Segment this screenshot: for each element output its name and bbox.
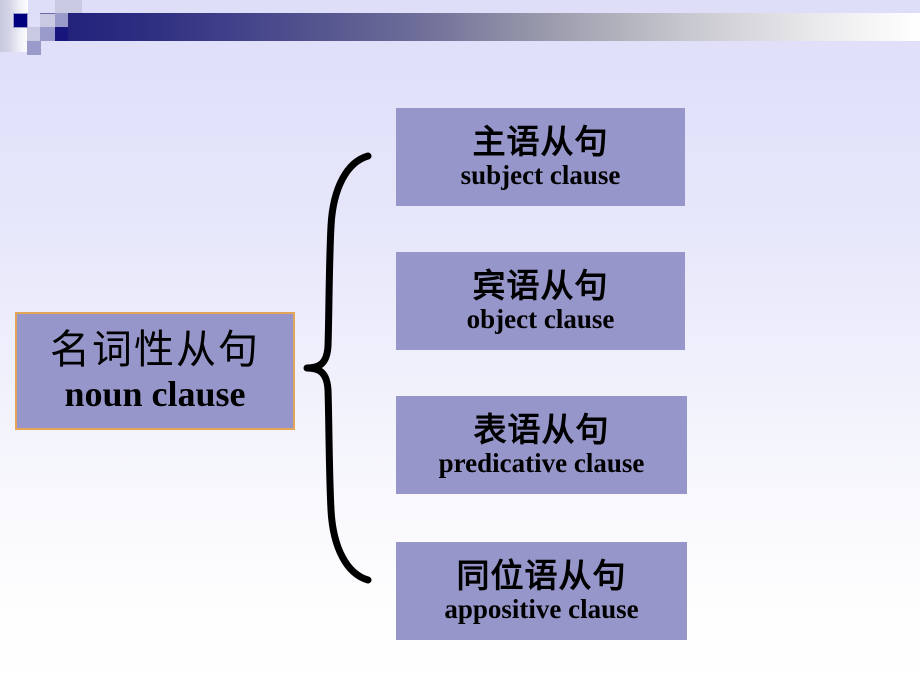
- branch-node-appositive-clause: 同位语从句 appositive clause: [396, 542, 687, 640]
- decor-mid-square-upper: [55, 13, 69, 27]
- root-node-chinese-label: 名词性从句: [50, 330, 260, 370]
- slide-canvas: 名词性从句 noun clause 主语从句 subject clause 宾语…: [0, 0, 920, 690]
- decor-pale-square-top: [55, 0, 82, 13]
- branch-english-label-predicative: predicative clause: [439, 450, 645, 477]
- branch-english-label-object: object clause: [467, 306, 615, 333]
- curly-brace-connector: [295, 140, 390, 600]
- root-node-english-label: noun clause: [64, 376, 245, 412]
- branch-chinese-label-predicative: 表语从句: [474, 413, 610, 446]
- header-gradient-banner: [68, 13, 920, 41]
- branch-chinese-label-object: 宾语从句: [473, 269, 609, 302]
- branch-chinese-label-subject: 主语从句: [473, 125, 609, 158]
- decor-mid-square-bottom: [27, 41, 41, 55]
- branch-node-object-clause: 宾语从句 object clause: [396, 252, 685, 350]
- branch-node-subject-clause: 主语从句 subject clause: [396, 108, 685, 206]
- decor-navy-block: [55, 27, 69, 41]
- brace-path: [307, 156, 368, 580]
- decor-pale-square-lower: [27, 27, 41, 41]
- root-node-noun-clause: 名词性从句 noun clause: [15, 312, 295, 430]
- decor-navy-square: [13, 13, 28, 28]
- branch-node-predicative-clause: 表语从句 predicative clause: [396, 396, 687, 494]
- branch-chinese-label-appositive: 同位语从句: [457, 559, 627, 592]
- branch-english-label-subject: subject clause: [461, 162, 621, 189]
- branch-english-label-appositive: appositive clause: [444, 596, 638, 623]
